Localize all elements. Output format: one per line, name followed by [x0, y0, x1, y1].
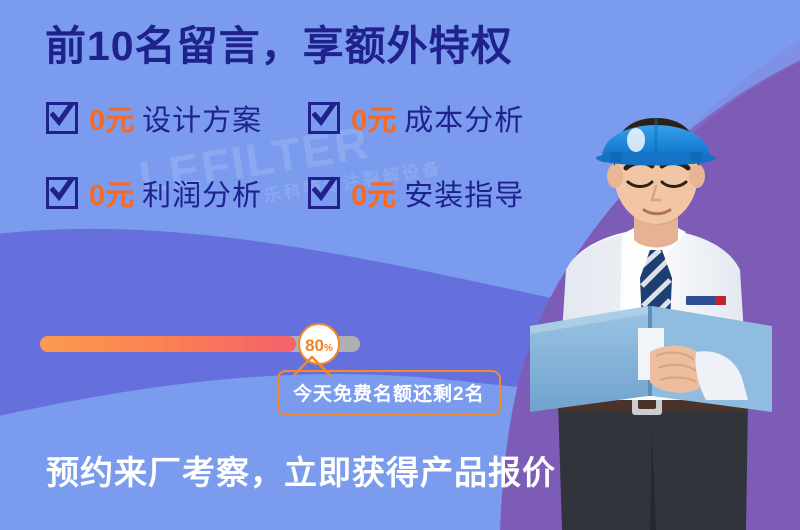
benefit-item-profit-analysis[interactable]: 0元 利润分析: [46, 172, 262, 214]
benefit-item-installation-guidance[interactable]: 0元 安装指导: [308, 172, 524, 214]
engineer-photo: [510, 100, 800, 530]
benefit-item-design-plan[interactable]: 0元 设计方案: [46, 97, 262, 139]
footer-cta-text: 预约来厂考察，立即获得产品报价: [46, 446, 556, 494]
benefit-row: 0元 利润分析 0元 安装指导: [46, 172, 524, 214]
progress-bar[interactable]: 80%: [40, 336, 360, 352]
benefit-label: 利润分析: [142, 172, 262, 214]
checkbox-checked-icon[interactable]: [308, 102, 340, 134]
promo-banner: LEFILTER 乐科特专注裂解设备 前10名留言，享额外特权 0元 设计方案 …: [0, 0, 800, 530]
benefit-price: 0元: [89, 172, 134, 214]
benefit-price: 0元: [351, 172, 396, 214]
benefit-label: 设计方案: [142, 97, 262, 139]
benefit-price: 0元: [89, 97, 134, 139]
progress-fill: [40, 336, 296, 352]
checkbox-checked-icon[interactable]: [46, 102, 78, 134]
tooltip-remaining-slots: 今天免费名额还剩2名: [277, 370, 501, 416]
benefit-item-cost-analysis[interactable]: 0元 成本分析: [308, 97, 524, 139]
checkbox-checked-icon[interactable]: [308, 177, 340, 209]
checkbox-checked-icon[interactable]: [46, 177, 78, 209]
benefit-price: 0元: [351, 97, 396, 139]
benefit-label: 成本分析: [404, 97, 524, 139]
benefit-row: 0元 设计方案 0元 成本分析: [46, 97, 524, 139]
page-title: 前10名留言，享额外特权: [45, 23, 513, 70]
benefit-label: 安装指导: [404, 172, 524, 214]
